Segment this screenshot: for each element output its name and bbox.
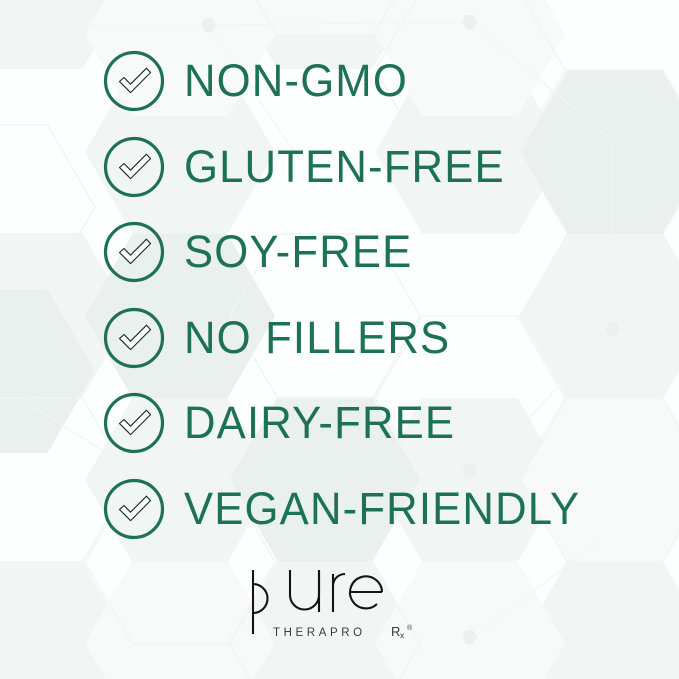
claim-item-dairy-free: DAIRY-FREE bbox=[103, 392, 464, 454]
claim-label: GLUTEN-FREE bbox=[184, 136, 505, 198]
logo-subtitle: THERAPRO bbox=[273, 627, 366, 639]
claim-label: NON-GMO bbox=[184, 50, 408, 112]
claim-label: DAIRY-FREE bbox=[184, 392, 455, 454]
product-claims-graphic: NON-GMO GLUTEN-FREE SOY-FREE NO FILLERS bbox=[0, 0, 679, 679]
claim-item-non-gmo: NON-GMO bbox=[103, 50, 415, 112]
logo-rx-main: R bbox=[391, 624, 400, 639]
check-circle-icon bbox=[103, 392, 165, 454]
claim-item-gluten-free: GLUTEN-FREE bbox=[103, 136, 515, 198]
check-circle-icon bbox=[103, 221, 165, 283]
claim-item-soy-free: SOY-FREE bbox=[103, 221, 420, 283]
pure-therapro-rx-logo: pure THERAPRO R x ® bbox=[245, 556, 435, 646]
claim-item-vegan-friendly: VEGAN-FRIENDLY bbox=[103, 478, 593, 540]
pure-wordmark-mark bbox=[253, 570, 382, 634]
check-circle-icon bbox=[103, 136, 165, 198]
claim-label: SOY-FREE bbox=[184, 221, 412, 283]
claim-item-no-fillers: NO FILLERS bbox=[103, 307, 459, 369]
registered-trademark-icon: ® bbox=[407, 624, 413, 632]
check-circle-icon bbox=[103, 50, 165, 112]
check-circle-icon bbox=[103, 478, 165, 540]
check-circle-icon bbox=[103, 307, 165, 369]
claim-label: NO FILLERS bbox=[184, 307, 450, 369]
logo-rx-subscript: x bbox=[400, 630, 405, 640]
claim-label: VEGAN-FRIENDLY bbox=[184, 478, 580, 540]
brand-logo: pure THERAPRO R x ® bbox=[0, 556, 679, 646]
